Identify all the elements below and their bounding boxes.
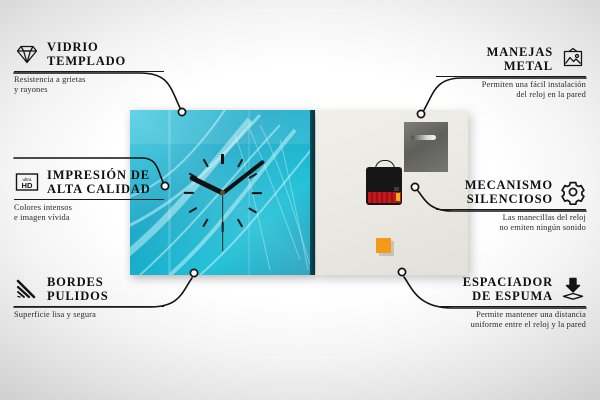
feature-header: MECANISMO SILENCIOSO	[436, 178, 586, 206]
battery-strip	[368, 192, 401, 203]
down-arrow-plate-icon	[560, 276, 586, 302]
polished-edges-icon	[14, 276, 40, 302]
feature-title: BORDES PULIDOS	[47, 275, 109, 303]
feature-header: ultra HD IMPRESIÓN DE ALTA CALIDAD	[14, 168, 164, 196]
feature-bordes-pulidos: BORDES PULIDOS Superficie lisa y segura	[14, 275, 164, 320]
feature-manejas-metal: MANEJAS METAL Permiten una fácil instala…	[436, 45, 586, 101]
feature-title: IMPRESIÓN DE ALTA CALIDAD	[47, 168, 151, 196]
feature-description: Superficie lisa y segura	[14, 310, 164, 320]
feature-rule	[436, 76, 586, 77]
feature-rule	[436, 306, 586, 307]
clock-center-cap	[220, 190, 225, 195]
hanging-frame-icon	[560, 46, 586, 72]
feature-rule	[14, 71, 164, 72]
feature-description: Permite mantener una distancia uniforme …	[436, 310, 586, 331]
mechanism-dial	[394, 187, 399, 191]
feature-espaciador-espuma: ESPACIADOR DE ESPUMA Permite mantener un…	[436, 275, 586, 331]
feature-title: VIDRIO TEMPLADO	[47, 40, 126, 68]
feature-header: VIDRIO TEMPLADO	[14, 40, 164, 68]
feature-header: MANEJAS METAL	[436, 45, 586, 73]
gear-icon	[560, 179, 586, 205]
feature-impresion-alta-calidad: ultra HD IMPRESIÓN DE ALTA CALIDAD Color…	[14, 168, 164, 224]
feature-mecanismo-silencioso: MECANISMO SILENCIOSO Las manecillas del …	[436, 178, 586, 234]
feature-description: Colores intensos e imagen vívida	[14, 203, 164, 224]
feature-vidrio-templado: VIDRIO TEMPLADO Resistencia a grietas y …	[14, 40, 164, 96]
feature-description: Permiten una fácil instalación del reloj…	[436, 80, 586, 101]
feature-header: BORDES PULIDOS	[14, 275, 164, 303]
diamond-icon	[14, 41, 40, 67]
feature-header: ESPACIADOR DE ESPUMA	[436, 275, 586, 303]
feature-description: Resistencia a grietas y rayones	[14, 75, 164, 96]
feature-rule	[14, 199, 164, 200]
feature-rule	[436, 209, 586, 210]
mechanism-loop	[375, 160, 395, 170]
clock-second-hand	[222, 193, 223, 251]
foam-spacer	[376, 238, 391, 253]
hanger-slot	[411, 135, 436, 140]
feature-title: MANEJAS METAL	[487, 45, 553, 73]
clock-side-edge	[310, 110, 315, 275]
feature-description: Las manecillas del reloj no emiten ningú…	[436, 213, 586, 234]
feature-title: MECANISMO SILENCIOSO	[465, 178, 553, 206]
clock-mechanism	[366, 167, 402, 205]
ultra-hd-icon: ultra HD	[14, 169, 40, 195]
feature-title: ESPACIADOR DE ESPUMA	[463, 275, 553, 303]
svg-text:HD: HD	[22, 181, 33, 190]
feature-rule	[14, 306, 164, 307]
metal-hanger	[404, 122, 448, 172]
infographic-canvas: VIDRIO TEMPLADO Resistencia a grietas y …	[0, 0, 600, 400]
